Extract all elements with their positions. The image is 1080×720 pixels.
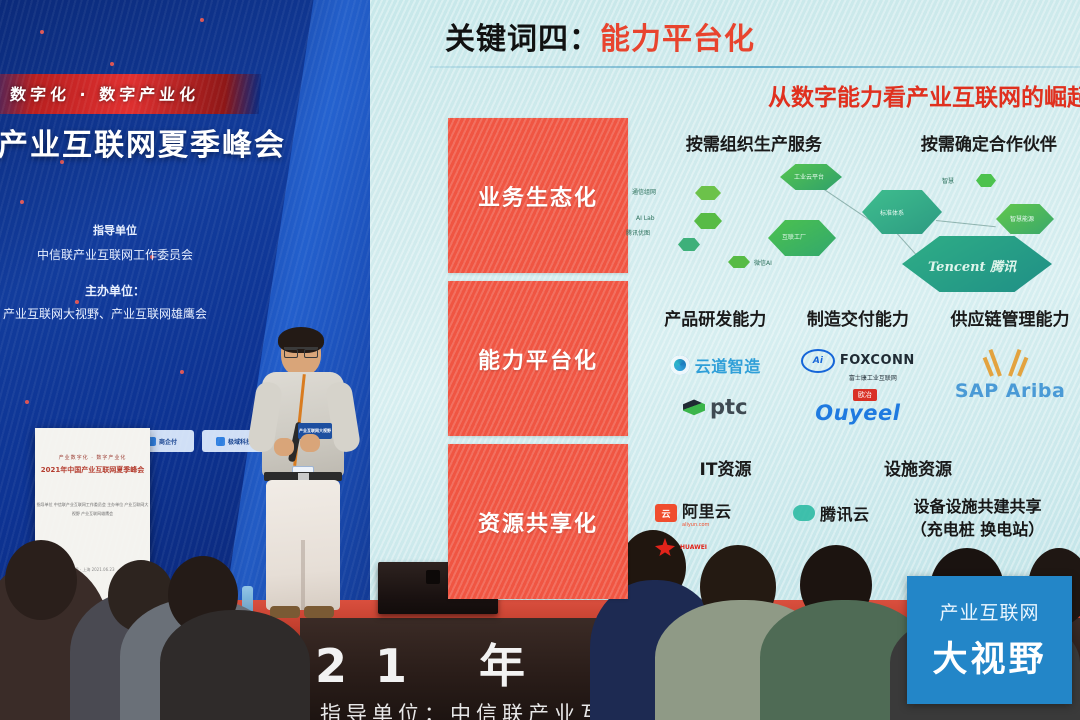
tencent-cloud-icon — [793, 505, 815, 521]
logo-yundao: 云道智造 — [655, 344, 776, 386]
speaker-shoe — [270, 606, 300, 618]
network-node-label: AI Lab — [636, 215, 655, 222]
pillar-label: 能力平台化 — [448, 343, 628, 375]
backdrop-dot — [20, 200, 24, 204]
heading-product-rnd: 产品研发能力 — [655, 305, 776, 330]
network-node-label: 互联工厂 — [782, 232, 806, 241]
huawei-sub: HUAWEI — [680, 544, 707, 551]
slide-title-accent: 能力平台化 — [600, 22, 755, 57]
backdrop-dot — [60, 160, 64, 164]
led-presentation-screen: 关键词四：能力平台化 从数字能力看产业互联网的崛起 业务生态化 能力平台化 资源… — [370, 0, 1080, 600]
yundao-swirl-icon — [670, 355, 690, 375]
heading-facility-resources: 设施资源 — [868, 455, 968, 480]
row-on-demand: 按需组织生产服务 按需确定合作伙伴 — [655, 130, 1080, 155]
network-node — [678, 238, 700, 251]
row-capabilities: 产品研发能力 制造交付能力 供应链管理能力 云道智造 — [655, 305, 1080, 428]
network-node — [976, 174, 996, 187]
partner-network-diagram: 通信组网 AI Lab 腾讯优图 微信AI 互联工厂 工业云平台 标准体系 Te… — [670, 168, 1080, 288]
heading-supply-chain: 供应链管理能力 — [940, 305, 1080, 330]
backdrop-dot — [75, 300, 79, 304]
yundao-name: 云道智造 — [695, 353, 761, 377]
network-node — [728, 256, 750, 268]
ouyeel-sub: 欧冶 — [853, 389, 877, 401]
conference-photo-scene: 数字化 · 数字产业化 国产业互联网夏季峰会 指导单位 中信联产业互联网工作委员… — [0, 0, 1080, 720]
pillar-label: 资源共享化 — [448, 506, 628, 538]
sponsor-mark-icon — [216, 437, 225, 446]
logo-ptc: ptc — [655, 386, 776, 428]
backdrop-dot — [40, 30, 44, 34]
title-divider — [430, 66, 1080, 68]
row-resources: IT资源 设施资源 云 阿里云 aliyun.com — [655, 455, 1080, 564]
backdrop-dot — [25, 400, 29, 404]
backdrop-theme-bar: 数字化 · 数字产业化 — [0, 74, 261, 114]
watermark-line-2: 大视野 — [932, 631, 1046, 682]
aliyun-name: 阿里云 — [682, 498, 732, 522]
network-node — [695, 186, 721, 200]
network-node-label: 标准体系 — [880, 208, 904, 217]
foxconn-sub: 富士康工业互联网 — [849, 373, 897, 382]
pillar-box: 资源共享化 — [448, 444, 628, 599]
sponsor-name: 商企付 — [159, 437, 177, 446]
speaker-left-hand — [274, 438, 294, 456]
audience-head — [5, 540, 77, 620]
logo-aliyun: 云 阿里云 aliyun.com — [655, 496, 765, 530]
poster-body: 指导单位 中信联产业互联网工作委员会 主办单位 产业互联网大视野 产业互联网雄鹰… — [35, 501, 150, 519]
backdrop-theme-text: 数字化 · 数字产业化 — [9, 81, 200, 105]
network-node-label: 智慧 — [942, 176, 954, 185]
logo-group-it: 云 阿里云 aliyun.com HUAWEI — [655, 496, 765, 564]
logo-ouyeel: 欧冶 Ouyeel — [798, 386, 919, 428]
network-node — [694, 213, 722, 229]
tencent-cloud-name: 腾讯云 — [820, 501, 870, 525]
logo-foxconn: Ai FOXCONN 富士康工业互联网 — [798, 344, 919, 386]
heading-choose-partner: 按需确定合作伙伴 — [898, 130, 1080, 155]
network-node-label: 微信AI — [754, 258, 772, 267]
network-link — [936, 220, 996, 227]
logo-group-supply-chain: SAP Ariba — [940, 344, 1080, 428]
mic-flag-text: 产业互联网大视野 — [298, 428, 332, 434]
tencent-brand-label: Tencent 腾讯 — [928, 256, 1016, 275]
speaker-trousers — [266, 480, 340, 610]
facility-line-1: 设备设施共建共享 — [870, 495, 1080, 518]
network-node-label: 通信组网 — [632, 187, 656, 196]
ptc-name: ptc — [710, 395, 748, 419]
sap-arch-mark — [940, 344, 1080, 378]
sponsor-mark-icon — [147, 437, 156, 446]
heading-it-resources: IT资源 — [683, 455, 768, 480]
heading-organize-production: 按需组织生产服务 — [670, 130, 838, 155]
sap-ariba-name: SAP Ariba — [955, 380, 1065, 402]
watermark-line-1: 产业互联网 — [939, 598, 1039, 625]
speaker-shoe — [304, 606, 334, 618]
sponsor-chip: 商企付 — [130, 430, 194, 452]
poster-title: 2021年中国产业互联网夏季峰会 — [35, 465, 150, 475]
backdrop-event-title: 国产业互联网夏季峰会 — [0, 120, 356, 164]
poster-kicker: 产业数字化 · 数字产业化 — [35, 454, 150, 461]
fii-ai-icon: Ai — [801, 349, 835, 373]
audience-member — [160, 610, 310, 720]
stage-banner-guide: 指导单位：中信联产业互联 — [320, 698, 632, 720]
heading-manufacturing: 制造交付能力 — [798, 305, 919, 330]
pillar-label: 业务生态化 — [448, 180, 628, 212]
backdrop-guide-value: 中信联产业互联网工作委员会 — [0, 246, 260, 263]
logo-huawei: HUAWEI — [655, 530, 765, 564]
backdrop-guide-label: 指导单位 — [0, 222, 230, 238]
slide-title: 关键词四：能力平台化 — [445, 14, 755, 58]
backdrop-dot — [180, 370, 184, 374]
backdrop-host-label: 主办单位： — [0, 282, 230, 299]
aliyun-mark-icon: 云 — [655, 504, 677, 522]
backdrop-dot — [200, 18, 204, 22]
speaker-right-hand — [300, 434, 320, 452]
network-node-label: 腾讯优图 — [626, 228, 650, 237]
ptc-cube-icon — [683, 398, 705, 416]
pillar-box: 业务生态化 — [448, 118, 628, 273]
pillar-box: 能力平台化 — [448, 281, 628, 436]
speaker-glasses-icon — [284, 347, 318, 356]
slide-title-prefix: 关键词四： — [445, 22, 600, 57]
huawei-flower-icon — [655, 538, 675, 556]
facility-line-2: （充电桩 换电站） — [870, 518, 1080, 541]
slide-subtitle: 从数字能力看产业互联网的崛起 — [768, 78, 1080, 112]
pillar-column: 业务生态化 能力平台化 资源共享化 — [448, 118, 628, 607]
aliyun-sub: aliyun.com — [682, 522, 732, 528]
backdrop-host-value: 产业互联网大视野、产业互联网雄鹰会 — [0, 305, 250, 322]
foxconn-name: FOXCONN — [840, 353, 915, 368]
sap-ariba-arch-icon — [986, 346, 1034, 376]
logo-group-manufacturing: Ai FOXCONN 富士康工业互联网 欧冶 Ouyeel — [798, 344, 919, 428]
logo-group-product-rnd: 云道智造 ptc — [655, 344, 776, 428]
backdrop-dot — [150, 255, 154, 259]
network-node-label: 智慧能源 — [1010, 214, 1034, 223]
facility-description: 设备设施共建共享 （充电桩 换电站） — [870, 495, 1080, 541]
backdrop-dot — [110, 62, 114, 66]
logo-sap-ariba: SAP Ariba — [940, 378, 1080, 404]
ouyeel-name: Ouyeel — [815, 401, 900, 425]
speaker-figure: 产业互联网大视野 — [248, 330, 358, 630]
network-node-label: 工业云平台 — [794, 172, 824, 181]
